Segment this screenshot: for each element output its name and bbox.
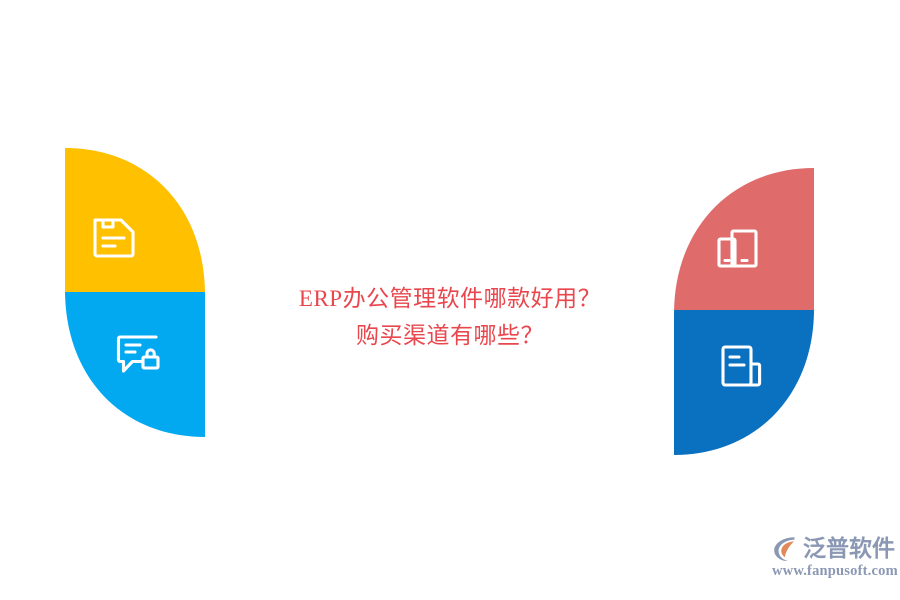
headline-line-2: 购买渠道有哪些？ — [215, 317, 685, 354]
watermark-brand-text: 泛普软件 — [803, 534, 895, 564]
fanpu-logo-icon — [771, 534, 801, 564]
right-leaf-top-half — [668, 162, 820, 310]
left-leaf-decoration — [60, 140, 215, 450]
left-leaf-top-half — [60, 140, 215, 292]
right-leaf-decoration — [668, 162, 820, 462]
headline-line-1: ERP办公管理软件哪款好用？ — [215, 280, 685, 317]
watermark-brand-row: 泛普软件 — [771, 533, 895, 565]
left-leaf-bottom-half — [60, 292, 215, 450]
watermark-logo: 泛普软件 www.fanpusoft.com — [771, 533, 893, 589]
watermark-url-text: www.fanpusoft.com — [772, 563, 898, 580]
page-title: ERP办公管理软件哪款好用？ 购买渠道有哪些？ — [215, 280, 685, 354]
banner-canvas: ERP办公管理软件哪款好用？ 购买渠道有哪些？ 泛普软件 www.fanpuso… — [0, 0, 900, 600]
right-leaf-bottom-half — [668, 310, 820, 462]
